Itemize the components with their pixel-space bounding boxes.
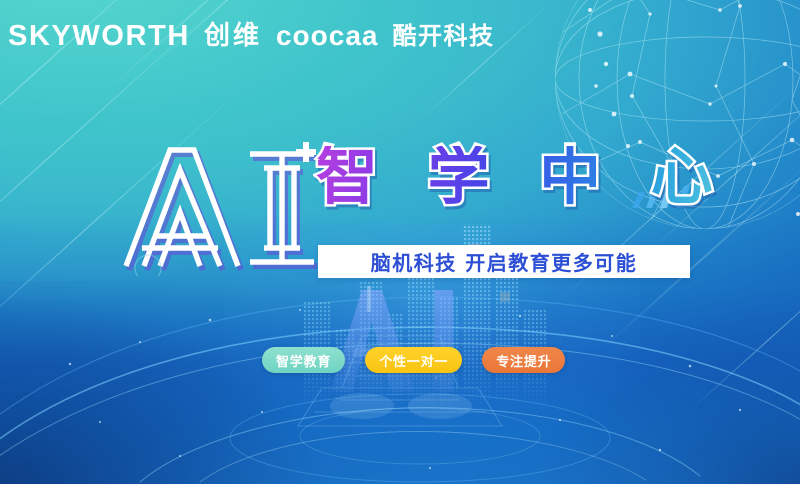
ai-plus-logotype xyxy=(118,136,328,276)
brand-logo-row: SKYWORTH 创维 coocaa 酷开科技 xyxy=(8,18,494,54)
skyworth-wordmark: SKYWORTH xyxy=(8,22,190,51)
coocaa-wordmark: coocaa xyxy=(276,22,379,50)
page-title: 智 学 中 心 xyxy=(316,146,727,208)
badge-focus-improvement[interactable]: 专注提升 xyxy=(482,347,565,373)
badge-one-on-one[interactable]: 个性一对一 xyxy=(365,347,462,373)
feature-badges: 智学教育 个性一对一 专注提升 xyxy=(262,347,565,373)
promo-banner: SKYWORTH 创维 coocaa 酷开科技 xyxy=(0,0,800,484)
badge-zhixue-education[interactable]: 智学教育 xyxy=(262,347,345,373)
skyworth-cn-wordmark: 创维 xyxy=(204,23,262,49)
coocaa-cn-wordmark: 酷开科技 xyxy=(392,24,494,48)
subtitle-bar: 脑机科技 开启教育更多可能 xyxy=(318,245,690,278)
badge-label: 专注提升 xyxy=(496,351,551,370)
badge-label: 个性一对一 xyxy=(379,351,448,370)
subtitle-text: 脑机科技 开启教育更多可能 xyxy=(371,247,637,276)
badge-label: 智学教育 xyxy=(276,351,331,370)
